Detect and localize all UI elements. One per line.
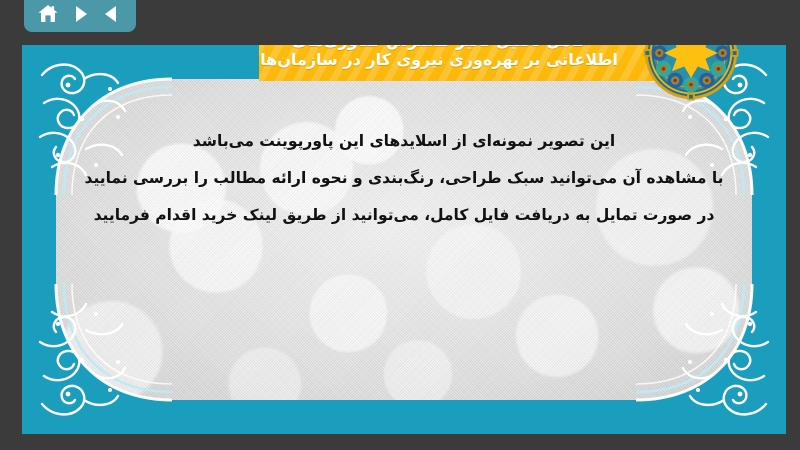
- body-line-3: در صورت تمایل به دریافت فایل کامل، می‌تو…: [52, 197, 756, 234]
- forward-button[interactable]: [67, 2, 93, 26]
- home-button[interactable]: [35, 2, 61, 26]
- triangle-right-icon: [70, 4, 90, 24]
- slide-body-text: این تصویر نمونه‌ای از اسلایدهای این پاور…: [22, 123, 786, 234]
- triangle-left-icon: [102, 4, 122, 24]
- slide-title-banner: کامل تحلیل تأثیر گسترش فناوری‌های اطلاعا…: [259, 45, 729, 81]
- slide-title-line-2: اطلاعاتی بر بهره‌وری نیروی کار در سازمان…: [260, 50, 618, 69]
- slide-canvas: کامل تحلیل تأثیر گسترش فناوری‌های اطلاعا…: [22, 45, 786, 434]
- home-icon: [37, 4, 59, 24]
- persian-medallion-ornament: [643, 45, 739, 101]
- banner-body: کامل تحلیل تأثیر گسترش فناوری‌های اطلاعا…: [259, 45, 663, 81]
- navigation-bar: [24, 0, 136, 32]
- body-line-2: با مشاهده آن می‌توانید سبک طراحی، رنگ‌بن…: [52, 160, 756, 197]
- back-button[interactable]: [99, 2, 125, 26]
- body-line-1: این تصویر نمونه‌ای از اسلایدهای این پاور…: [52, 123, 756, 160]
